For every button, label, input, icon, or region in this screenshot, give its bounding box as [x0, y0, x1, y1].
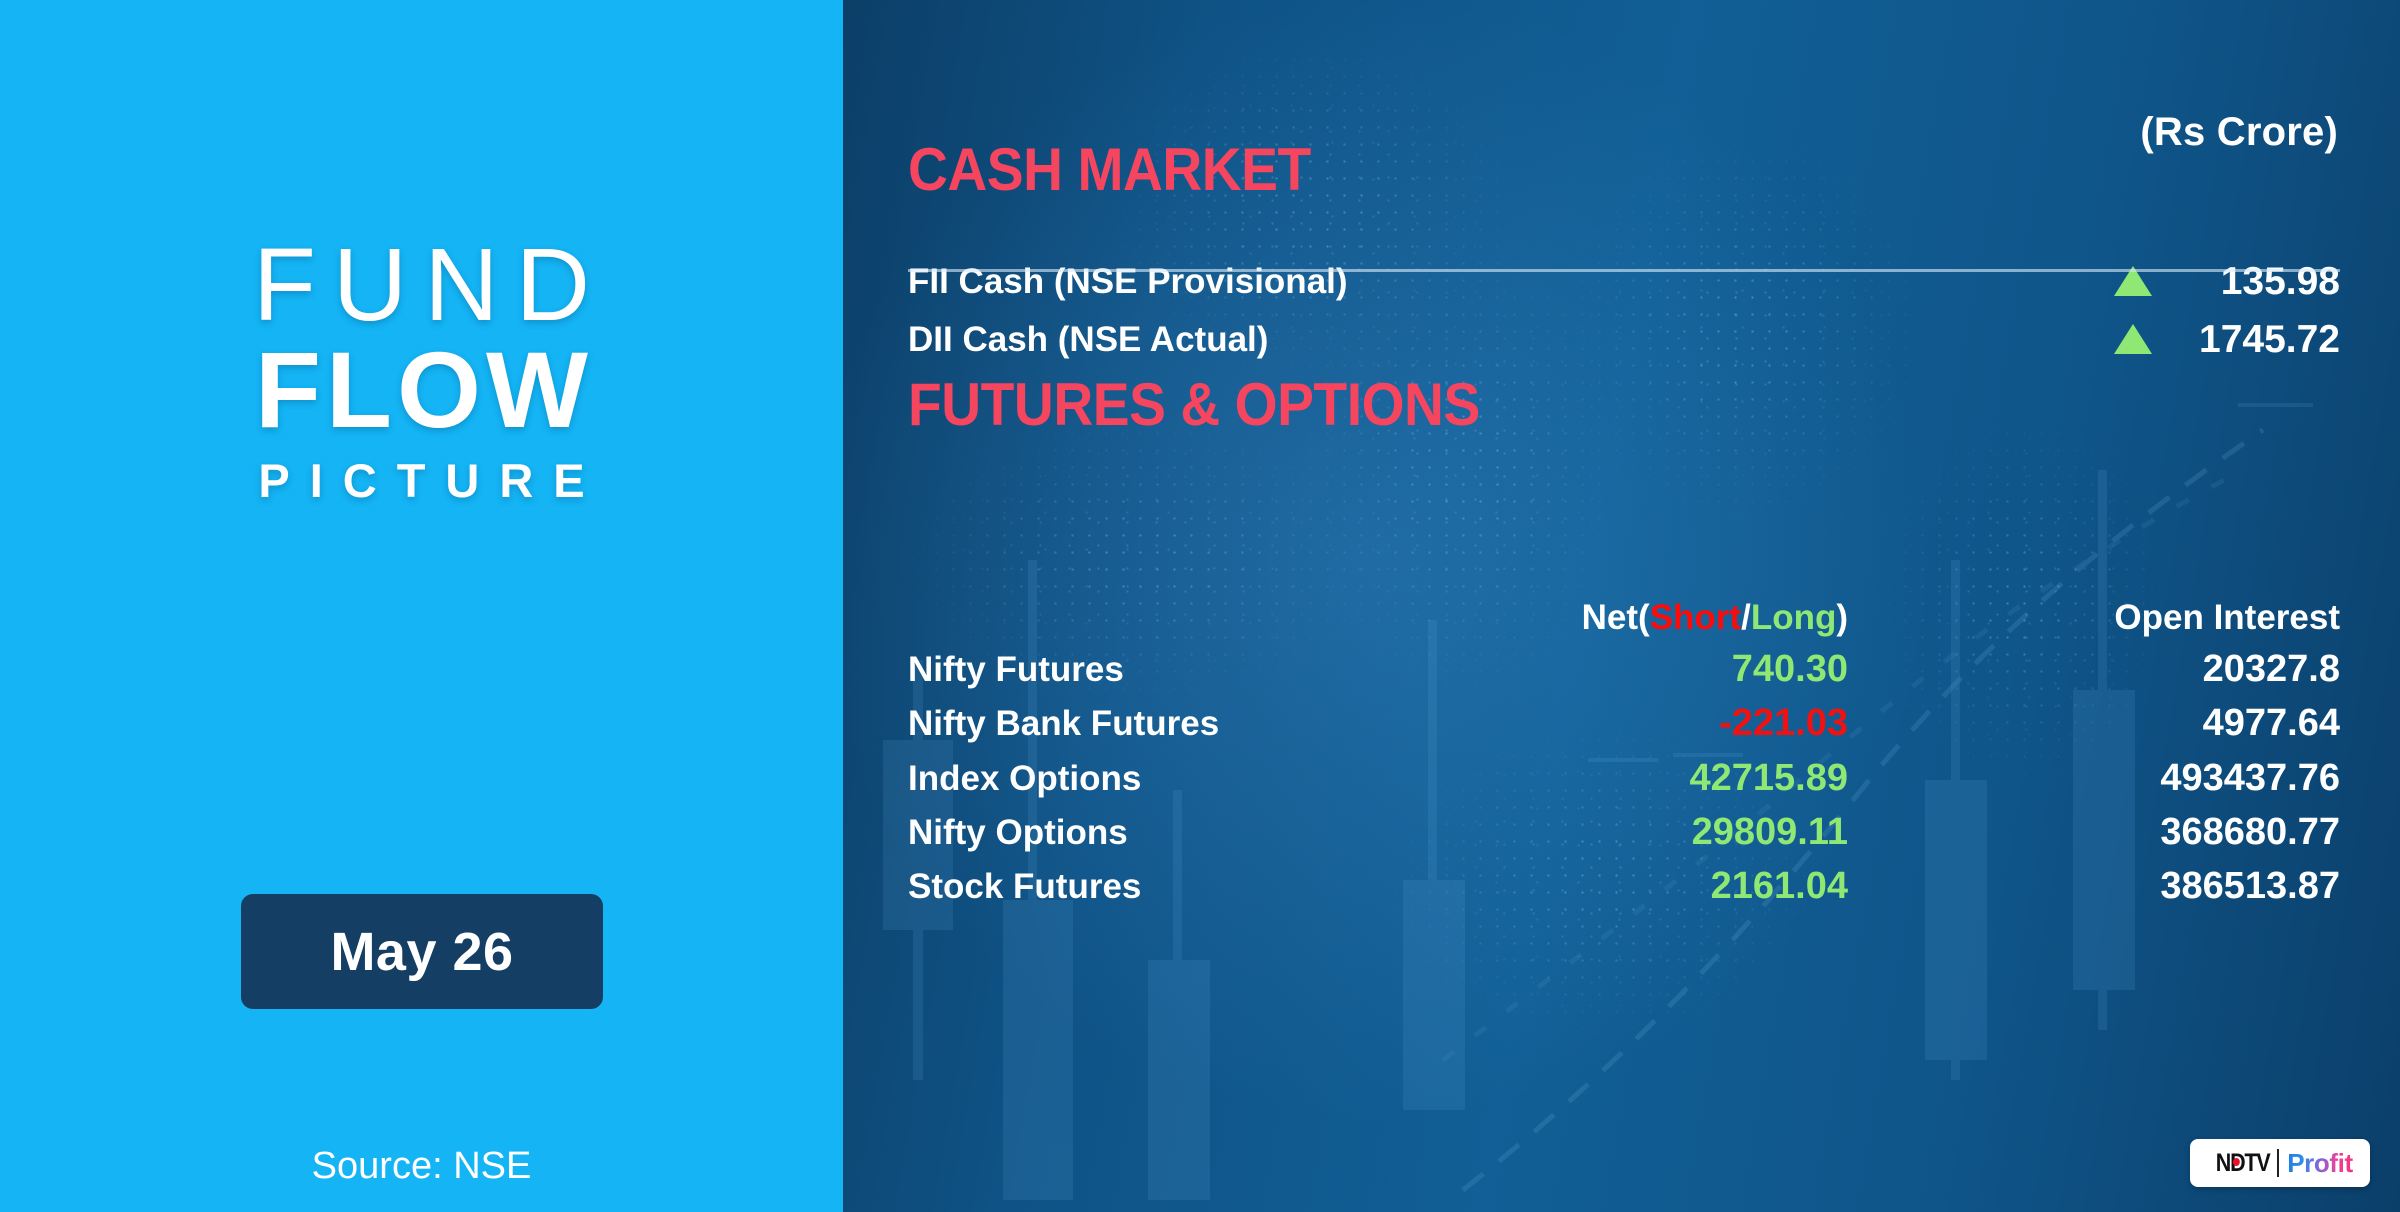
brand-panel: FUND FLOW PICTURE May 26 Source: NSE: [0, 0, 843, 1212]
cash-row-dii: DII Cash (NSE Actual) 1745.72: [908, 320, 2340, 366]
row-open-interest-value: 386513.87: [2160, 865, 2340, 908]
row-open-interest-value: 4977.64: [2203, 702, 2340, 745]
cash-market-title: CASH MARKET: [908, 140, 1311, 200]
row-label: Nifty Futures: [908, 650, 1124, 690]
net-separator: /: [1741, 598, 1751, 637]
arrow-up-icon: [2114, 324, 2152, 354]
row-open-interest-value: 20327.8: [2203, 648, 2340, 691]
currency-unit-label: (Rs Crore): [2140, 110, 2338, 155]
ndtv-profit-logo: NDTV Profit: [2190, 1139, 2370, 1187]
logo-divider: [2277, 1149, 2280, 1177]
row-label: Index Options: [908, 759, 1141, 799]
cash-row-fii-value: 135.98: [2221, 260, 2340, 304]
row-open-interest-value: 493437.76: [2160, 757, 2340, 800]
cash-row-dii-value: 1745.72: [2199, 318, 2340, 362]
table-row: Nifty Futures 740.30 20327.8: [908, 650, 2340, 696]
ndtv-text: NDTV: [2216, 1149, 2270, 1177]
row-net-value: 42715.89: [1690, 757, 1849, 800]
net-suffix: ): [1836, 598, 1848, 637]
logo-line-fund: FUND: [0, 235, 843, 336]
column-header-open-interest: Open Interest: [2114, 598, 2340, 638]
ndtv-wordmark: NDTV: [2216, 1149, 2270, 1178]
profit-wordmark: Profit: [2287, 1148, 2352, 1179]
row-net-value: 2161.04: [1711, 865, 1848, 908]
source-attribution: Source: NSE: [0, 1145, 843, 1188]
row-label: Nifty Bank Futures: [908, 704, 1219, 744]
table-row: Stock Futures 2161.04 386513.87: [908, 867, 2340, 913]
fund-flow-picture-logo: FUND FLOW PICTURE: [0, 235, 843, 511]
date-badge: May 26: [241, 894, 603, 1009]
row-net-value: 29809.11: [1692, 811, 1848, 854]
fund-flow-picture-graphic: FUND FLOW PICTURE May 26 Source: NSE: [0, 0, 2400, 1212]
cash-row-fii-label: FII Cash (NSE Provisional): [908, 262, 1348, 302]
cash-row-dii-label: DII Cash (NSE Actual): [908, 320, 1268, 360]
futures-options-title: FUTURES & OPTIONS: [908, 375, 1480, 435]
net-prefix: Net(: [1582, 598, 1650, 637]
column-header-net: Net(Short/Long): [1582, 598, 1848, 638]
date-badge-label: May 26: [330, 921, 513, 983]
section-divider: [908, 269, 2340, 272]
data-panel: (Rs Crore) CASH MARKET FII Cash (NSE Pro…: [843, 0, 2400, 1212]
row-open-interest-value: 368680.77: [2160, 811, 2340, 854]
logo-line-flow: FLOW: [0, 336, 843, 444]
row-net-value: 740.30: [1732, 648, 1848, 691]
net-short-label: Short: [1650, 598, 1741, 637]
table-row: Nifty Options 29809.11 368680.77: [908, 813, 2340, 859]
row-net-value: -221.03: [1719, 702, 1848, 745]
row-label: Stock Futures: [908, 867, 1141, 907]
row-label: Nifty Options: [908, 813, 1128, 853]
table-row: Index Options 42715.89 493437.76: [908, 759, 2340, 805]
futures-options-column-headers: Net(Short/Long) Open Interest: [908, 598, 2340, 644]
table-row: Nifty Bank Futures -221.03 4977.64: [908, 704, 2340, 750]
logo-line-picture: PICTURE: [0, 452, 843, 511]
net-long-label: Long: [1751, 598, 1837, 637]
